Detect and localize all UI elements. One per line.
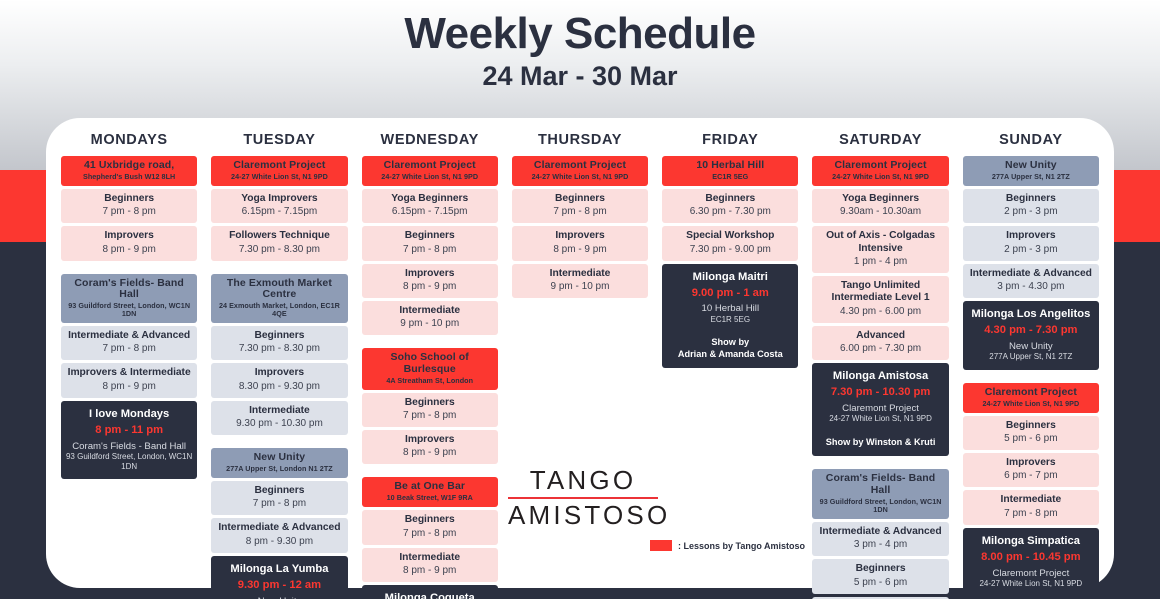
venue-name: Claremont Project	[214, 160, 344, 172]
class-time: 9.30am - 10.30am	[814, 206, 946, 218]
class-time: 6.30 pm - 7.30 pm	[664, 206, 796, 218]
milonga-event[interactable]: I love Mondays8 pm - 11 pmCoram's Fields…	[61, 401, 197, 480]
class-name: Intermediate	[514, 268, 646, 280]
logo-divider-rule	[508, 497, 658, 500]
venue-name: Be at One Bar	[365, 481, 495, 493]
day-column-saturday: SATURDAYClaremont Project24-27 White Lio…	[805, 126, 955, 599]
venue-header[interactable]: Claremont Project24-27 White Lion St, N1…	[362, 156, 498, 186]
class-entry[interactable]: Beginners5 pm - 6 pm	[812, 559, 948, 593]
venue-name: Claremont Project	[515, 160, 645, 172]
class-time: 8 pm - 9 pm	[514, 244, 646, 256]
class-name: Intermediate & Advanced	[814, 526, 946, 538]
class-entry[interactable]: Yoga Beginners9.30am - 10.30am	[812, 189, 948, 223]
venue-header[interactable]: Soho School of Burlesque4A Streatham St,…	[362, 348, 498, 390]
class-time: 7 pm - 8 pm	[63, 343, 195, 355]
class-name: Advanced	[814, 330, 946, 342]
class-entry[interactable]: Yoga Improvers6.15pm - 7.15pm	[211, 189, 347, 223]
class-time: 8 pm - 9.30 pm	[213, 536, 345, 548]
class-entry[interactable]: Beginners7 pm - 8 pm	[362, 393, 498, 427]
section-spacer	[812, 459, 948, 469]
venue-address: 24-27 White Lion St, N1 9PD	[365, 173, 495, 181]
class-time: 3 pm - 4 pm	[814, 539, 946, 551]
logo-line-1: TANGO	[508, 466, 658, 495]
class-name: Intermediate	[364, 305, 496, 317]
class-time: 9 pm - 10 pm	[514, 281, 646, 293]
day-header: SUNDAY	[963, 126, 1099, 156]
venue-address: 277A Upper St, N1 2TZ	[966, 173, 1096, 181]
class-time: 9 pm - 10 pm	[364, 318, 496, 330]
class-entry[interactable]: Intermediate & Advanced7 pm - 8 pm	[61, 326, 197, 360]
class-entry[interactable]: Improvers & Intermediate8 pm - 9 pm	[61, 363, 197, 397]
logo-line-2: AMISTOSO	[508, 501, 658, 530]
class-entry[interactable]: Beginners5 pm - 6 pm	[963, 416, 1099, 450]
section-spacer	[211, 264, 347, 274]
class-time: 5 pm - 6 pm	[814, 577, 946, 589]
section-spacer	[362, 467, 498, 477]
venue-address: 277A Upper St, London N1 2TZ	[214, 465, 344, 473]
milonga-address: 24-27 White Lion St, N1 9PD	[816, 414, 944, 424]
class-time: 7 pm - 8 pm	[965, 508, 1097, 520]
venue-header[interactable]: New Unity277A Upper St, N1 2TZ	[963, 156, 1099, 186]
class-name: Out of Axis - Colgadas Intensive	[814, 230, 946, 255]
class-time: 6.15pm - 7.15pm	[364, 206, 496, 218]
class-name: Intermediate & Advanced	[965, 268, 1097, 280]
venue-header[interactable]: Coram's Fields- Band Hall93 Guildford St…	[61, 274, 197, 324]
class-time: 7.30 pm - 8.30 pm	[213, 343, 345, 355]
venue-name: Claremont Project	[365, 160, 495, 172]
class-time: 7.30 pm - 9.00 pm	[664, 244, 796, 256]
section-spacer	[963, 373, 1099, 383]
class-entry[interactable]: Beginners7 pm - 8 pm	[362, 510, 498, 544]
class-name: Intermediate & Advanced	[213, 522, 345, 534]
class-time: 8.30 pm - 9.30 pm	[213, 381, 345, 393]
class-name: Beginners	[364, 514, 496, 526]
venue-address: 10 Beak Street, W1F 9RA	[365, 494, 495, 502]
class-name: Yoga Beginners	[364, 193, 496, 205]
venue-header[interactable]: Be at One Bar10 Beak Street, W1F 9RA	[362, 477, 498, 507]
section-spacer	[211, 438, 347, 448]
class-entry[interactable]: Beginners7 pm - 8 pm	[362, 226, 498, 260]
venue-header[interactable]: The Exmouth Market Centre24 Exmouth Mark…	[211, 274, 347, 324]
class-entry[interactable]: Improvers8 pm - 9 pm	[61, 226, 197, 260]
day-header: THURSDAY	[512, 126, 648, 156]
venue-header[interactable]: Claremont Project24-27 White Lion St, N1…	[211, 156, 347, 186]
class-name: Improvers	[965, 457, 1097, 469]
milonga-show-credit: Show by Winston & Kruti	[816, 437, 944, 449]
class-name: Improvers	[364, 434, 496, 446]
class-time: 4.30 pm - 6.00 pm	[814, 306, 946, 318]
milonga-address: 93 Guildford Street, London, WC1N 1DN	[65, 452, 193, 471]
venue-header[interactable]: New Unity277A Upper St, London N1 2TZ	[211, 448, 347, 478]
class-name: Followers Technique	[213, 230, 345, 242]
venue-header[interactable]: 41 Uxbridge road,Shepherd's Bush W12 8LH	[61, 156, 197, 186]
class-time: 7 pm - 8 pm	[364, 528, 496, 540]
class-time: 7 pm - 8 pm	[514, 206, 646, 218]
venue-address: 24-27 White Lion St, N1 9PD	[815, 173, 945, 181]
brand-logo: TANGO AMISTOSO	[508, 466, 658, 530]
milonga-name: Milonga La Yumba	[215, 563, 343, 576]
milonga-address: EC1R 5EG	[666, 315, 794, 325]
milonga-time: 8.00 pm - 10.45 pm	[967, 551, 1095, 564]
class-entry[interactable]: Intermediate9.30 pm - 10.30 pm	[211, 401, 347, 435]
venue-address: 24-27 White Lion St, N1 9PD	[515, 173, 645, 181]
day-header: TUESDAY	[211, 126, 347, 156]
class-name: Beginners	[364, 230, 496, 242]
class-entry[interactable]: Out of Axis - Colgadas Intensive1 pm - 4…	[812, 226, 948, 273]
class-time: 7 pm - 8 pm	[364, 410, 496, 422]
milonga-event[interactable]: Milonga Coqueta9 pm - 11.30 pmBe at One …	[362, 585, 498, 599]
venue-name: Claremont Project	[966, 387, 1096, 399]
class-time: 7 pm - 8 pm	[213, 498, 345, 510]
venue-address: EC1R 5EG	[665, 173, 795, 181]
milonga-event[interactable]: Milonga Maitri9.00 pm - 1 am10 Herbal Hi…	[662, 264, 798, 369]
class-entry[interactable]: Intermediate & Advanced8 pm - 9.30 pm	[211, 518, 347, 552]
class-time: 8 pm - 9 pm	[364, 565, 496, 577]
class-name: Improvers	[213, 367, 345, 379]
page-title: Weekly Schedule	[0, 8, 1160, 60]
venue-name: New Unity	[966, 160, 1096, 172]
venue-name: New Unity	[214, 452, 344, 464]
venue-address: 4A Streatham St, London	[365, 377, 495, 385]
venue-name: 10 Herbal Hill	[665, 160, 795, 172]
milonga-venue: Claremont Project	[967, 568, 1095, 580]
class-entry[interactable]: Beginners2 pm - 3 pm	[963, 189, 1099, 223]
milonga-event[interactable]: Milonga La Yumba9.30 pm - 12 amNew Unity…	[211, 556, 347, 599]
class-entry[interactable]: Yoga Beginners6.15pm - 7.15pm	[362, 189, 498, 223]
class-entry[interactable]: Improvers8.30 pm - 9.30 pm	[211, 363, 347, 397]
milonga-time: 7.30 pm - 10.30 pm	[816, 386, 944, 399]
milonga-show-credit: Show byAdrian & Amanda Costa	[666, 337, 794, 360]
class-entry[interactable]: Intermediate & Advanced3 pm - 4.30 pm	[963, 264, 1099, 298]
milonga-venue: Claremont Project	[816, 403, 944, 415]
class-time: 8 pm - 9 pm	[364, 281, 496, 293]
class-name: Improvers	[965, 230, 1097, 242]
class-time: 9.30 pm - 10.30 pm	[213, 418, 345, 430]
class-time: 2 pm - 3 pm	[965, 206, 1097, 218]
date-range: 24 Mar - 30 Mar	[0, 61, 1160, 92]
milonga-address: 277A Upper St, N1 2TZ	[967, 352, 1095, 362]
milonga-name: Milonga Los Angelitos	[967, 308, 1095, 321]
milonga-event[interactable]: Milonga Amistosa7.30 pm - 10.30 pmClarem…	[812, 363, 948, 456]
day-header: SATURDAY	[812, 126, 948, 156]
venue-name: Soho School of Burlesque	[365, 352, 495, 376]
milonga-venue: New Unity	[215, 596, 343, 599]
class-time: 6.00 pm - 7.30 pm	[814, 343, 946, 355]
class-entry[interactable]: Advanced6.00 pm - 7.30 pm	[812, 326, 948, 360]
class-time: 6.15pm - 7.15pm	[213, 206, 345, 218]
day-column-sunday: SUNDAYNew Unity277A Upper St, N1 2TZBegi…	[956, 126, 1106, 599]
class-entry[interactable]: Beginners7 pm - 8 pm	[211, 481, 347, 515]
class-name: Beginners	[814, 563, 946, 575]
section-spacer	[61, 264, 197, 274]
venue-address: 24-27 White Lion St, N1 9PD	[214, 173, 344, 181]
class-entry[interactable]: Special Workshop7.30 pm - 9.00 pm	[662, 226, 798, 260]
section-spacer	[362, 338, 498, 348]
class-name: Yoga Improvers	[213, 193, 345, 205]
legend-label: : Lessons by Tango Amistoso	[678, 541, 805, 551]
venue-header[interactable]: Claremont Project24-27 White Lion St, N1…	[963, 383, 1099, 413]
milonga-name: Milonga Simpatica	[967, 535, 1095, 548]
class-name: Improvers	[364, 268, 496, 280]
class-entry[interactable]: Beginners7 pm - 8 pm	[61, 189, 197, 223]
class-name: Intermediate	[965, 494, 1097, 506]
class-entry[interactable]: Intermediate8 pm - 9 pm	[362, 548, 498, 582]
class-name: Intermediate	[213, 405, 345, 417]
venue-header[interactable]: Coram's Fields- Band Hall93 Guildford St…	[812, 469, 948, 519]
day-column-friday: FRIDAY10 Herbal HillEC1R 5EGBeginners6.3…	[655, 126, 805, 599]
class-name: Improvers	[514, 230, 646, 242]
milonga-time: 4.30 pm - 7.30 pm	[967, 324, 1095, 337]
venue-name: Claremont Project	[815, 160, 945, 172]
milonga-venue: 10 Herbal Hill	[666, 303, 794, 315]
class-time: 1 pm - 4 pm	[814, 256, 946, 268]
day-header: MONDAYS	[61, 126, 197, 156]
class-time: 8 pm - 9 pm	[63, 381, 195, 393]
class-name: Improvers	[63, 230, 195, 242]
milonga-time: 9.30 pm - 12 am	[215, 579, 343, 592]
class-time: 3 pm - 4.30 pm	[965, 281, 1097, 293]
class-time: 7.30 pm - 8.30 pm	[213, 244, 345, 256]
day-column-mondays: MONDAYS41 Uxbridge road,Shepherd's Bush …	[54, 126, 204, 599]
class-time: 8 pm - 9 pm	[63, 244, 195, 256]
venue-address: 24-27 White Lion St, N1 9PD	[966, 400, 1096, 408]
venue-name: 41 Uxbridge road,	[64, 160, 194, 172]
milonga-name: I love Mondays	[65, 408, 193, 421]
class-name: Improvers & Intermediate	[63, 367, 195, 379]
venue-name: Coram's Fields- Band Hall	[64, 278, 194, 302]
venue-address: 93 Guildford Street, London, WC1N 1DN	[64, 302, 194, 318]
class-entry[interactable]: Improvers2 pm - 3 pm	[963, 226, 1099, 260]
day-header: WEDNESDAY	[362, 126, 498, 156]
class-entry[interactable]: Intermediate7 pm - 8 pm	[963, 490, 1099, 524]
legend: : Lessons by Tango Amistoso	[650, 540, 805, 551]
page-header: Weekly Schedule 24 Mar - 30 Mar	[0, 8, 1160, 92]
milonga-time: 9.00 pm - 1 am	[666, 287, 794, 300]
class-name: Beginners	[63, 193, 195, 205]
class-time: 8 pm - 9 pm	[364, 447, 496, 459]
venue-address: 24 Exmouth Market, London, EC1R 4QE	[214, 302, 344, 318]
class-entry[interactable]: Improvers6 pm - 7 pm	[963, 453, 1099, 487]
class-entry[interactable]: Tango UnlimitedIntermediate Level 14.30 …	[812, 276, 948, 323]
class-time: 7 pm - 8 pm	[364, 244, 496, 256]
class-name: Tango UnlimitedIntermediate Level 1	[814, 280, 946, 305]
day-column-wednesday: WEDNESDAYClaremont Project24-27 White Li…	[355, 126, 505, 599]
milonga-name: Milonga Coqueta	[366, 592, 494, 599]
venue-header[interactable]: Claremont Project24-27 White Lion St, N1…	[512, 156, 648, 186]
class-name: Yoga Beginners	[814, 193, 946, 205]
legend-color-swatch	[650, 540, 672, 551]
class-entry[interactable]: Intermediate9 pm - 10 pm	[362, 301, 498, 335]
class-time: 6 pm - 7 pm	[965, 470, 1097, 482]
venue-header[interactable]: Claremont Project24-27 White Lion St, N1…	[812, 156, 948, 186]
class-name: Beginners	[664, 193, 796, 205]
class-entry[interactable]: Intermediate & Advanced3 pm - 4 pm	[812, 522, 948, 556]
class-entry[interactable]: Beginners6.30 pm - 7.30 pm	[662, 189, 798, 223]
venue-address: Shepherd's Bush W12 8LH	[64, 173, 194, 181]
class-entry[interactable]: Intermediate9 pm - 10 pm	[512, 264, 648, 298]
class-name: Intermediate	[364, 552, 496, 564]
class-name: Beginners	[213, 330, 345, 342]
day-column-tuesday: TUESDAYClaremont Project24-27 White Lion…	[204, 126, 354, 599]
class-entry[interactable]: Followers Technique7.30 pm - 8.30 pm	[211, 226, 347, 260]
class-entry[interactable]: Improvers8 pm - 9 pm	[362, 264, 498, 298]
class-name: Beginners	[514, 193, 646, 205]
class-name: Beginners	[965, 420, 1097, 432]
class-entry[interactable]: Improvers8 pm - 9 pm	[362, 430, 498, 464]
class-entry[interactable]: Beginners7.30 pm - 8.30 pm	[211, 326, 347, 360]
class-time: 5 pm - 6 pm	[965, 433, 1097, 445]
venue-name: The Exmouth Market Centre	[214, 278, 344, 302]
milonga-name: Milonga Amistosa	[816, 370, 944, 383]
class-entry[interactable]: Beginners7 pm - 8 pm	[512, 189, 648, 223]
class-name: Intermediate & Advanced	[63, 330, 195, 342]
class-name: Beginners	[213, 485, 345, 497]
venue-name: Coram's Fields- Band Hall	[815, 473, 945, 497]
venue-address: 93 Guildford Street, London, WC1N 1DN	[815, 498, 945, 514]
day-header: FRIDAY	[662, 126, 798, 156]
milonga-address: 24-27 White Lion St, N1 9PD	[967, 579, 1095, 589]
class-name: Beginners	[364, 397, 496, 409]
milonga-event[interactable]: Milonga Simpatica8.00 pm - 10.45 pmClare…	[963, 528, 1099, 597]
class-entry[interactable]: Improvers8 pm - 9 pm	[512, 226, 648, 260]
venue-header[interactable]: 10 Herbal HillEC1R 5EG	[662, 156, 798, 186]
class-time: 7 pm - 8 pm	[63, 206, 195, 218]
milonga-event[interactable]: Milonga Los Angelitos4.30 pm - 7.30 pmNe…	[963, 301, 1099, 370]
class-name: Beginners	[965, 193, 1097, 205]
milonga-time: 8 pm - 11 pm	[65, 424, 193, 437]
milonga-name: Milonga Maitri	[666, 271, 794, 284]
milonga-venue: Coram's Fields - Band Hall	[65, 441, 193, 453]
class-name: Special Workshop	[664, 230, 796, 242]
milonga-venue: New Unity	[967, 341, 1095, 353]
class-time: 2 pm - 3 pm	[965, 244, 1097, 256]
